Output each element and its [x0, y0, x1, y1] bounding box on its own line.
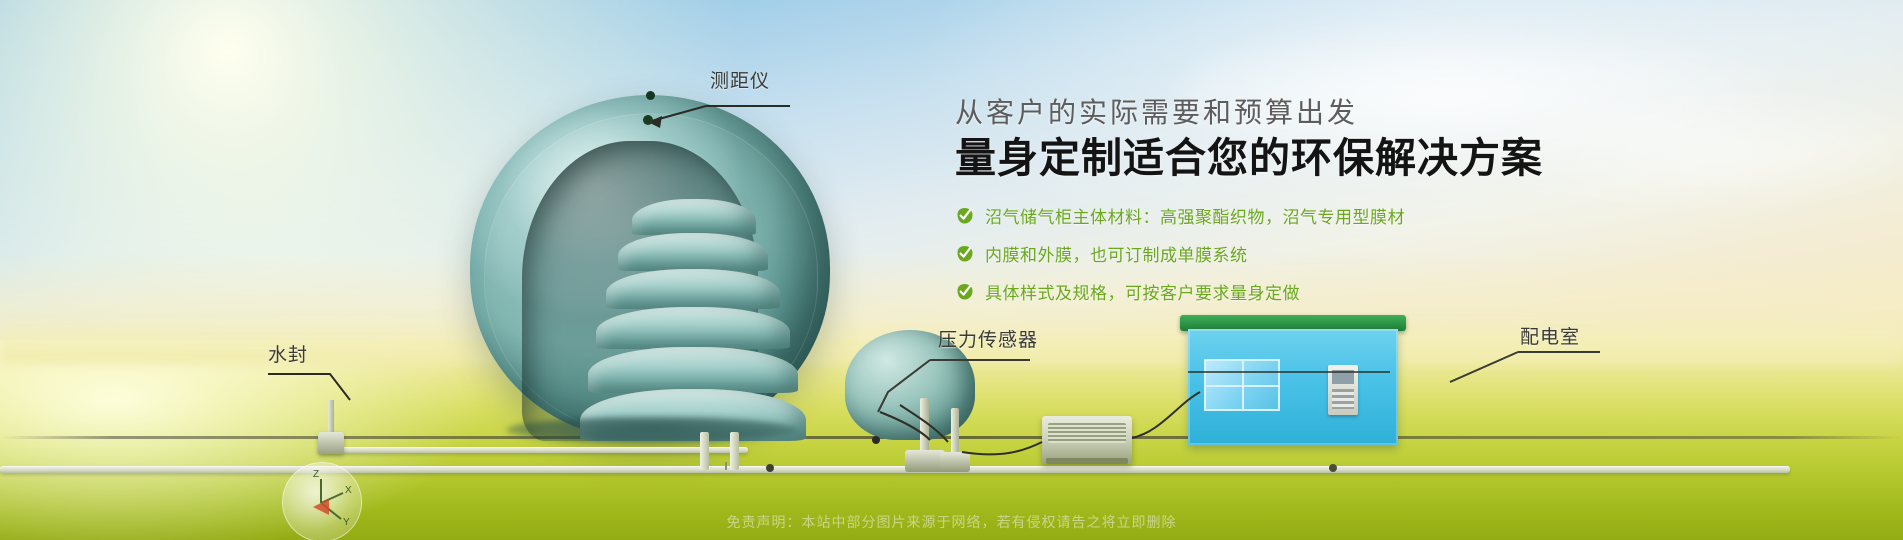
valve-column [951, 408, 959, 454]
hero-banner: Z X Y 测距仪 水封 压力传感器 配电室 从客户的实际需要和预算出发 量身定… [0, 0, 1903, 540]
pressure-sensor-unit [905, 398, 945, 470]
check-badge-icon [955, 206, 975, 226]
svg-text:Z: Z [313, 469, 319, 480]
branch-pipeline [318, 447, 748, 453]
vent-stack [700, 432, 709, 470]
list-item-label: 具体样式及规格，可按客户要求量身定做 [985, 279, 1300, 304]
inner-membrane-layer [618, 233, 768, 271]
kicker-text: 从客户的实际需要和预算出发 [955, 95, 1615, 130]
control-panel-icon [1328, 365, 1358, 415]
gas-holder-dome [470, 95, 830, 440]
list-item-label: 内膜和外膜，也可订制成单膜系统 [985, 241, 1248, 266]
svg-text:X: X [345, 485, 352, 496]
blower-base [1046, 458, 1128, 464]
label-power-distribution-room: 配电室 [1520, 322, 1580, 349]
list-item-label: 沼气储气柜主体材料：高强聚酯织物，沼气专用型膜材 [985, 203, 1405, 228]
list-item: 沼气储气柜主体材料：高强聚酯织物，沼气专用型膜材 [955, 203, 1615, 228]
water-seal-post [328, 400, 334, 436]
disclaimer-text: 免责声明：本站中部分图片来源于网络，若有侵权请告之将立即删除 [0, 512, 1903, 532]
inner-membrane-layer [606, 269, 780, 309]
list-item: 具体样式及规格，可按客户要求量身定做 [955, 279, 1615, 304]
water-seal-box [318, 432, 344, 454]
blower-grill [1048, 423, 1126, 443]
power-distribution-room-building [1188, 315, 1398, 445]
feature-bullet-list: 沼气储气柜主体材料：高强聚酯织物，沼气专用型膜材 内膜和外膜，也可订制成单膜系统 [955, 203, 1615, 304]
headline-text: 量身定制适合您的环保解决方案 [955, 134, 1615, 183]
check-badge-icon [955, 244, 975, 264]
shed-window [1204, 359, 1280, 411]
main-pipeline [0, 466, 1790, 473]
dome-cutaway [522, 141, 758, 441]
check-badge-icon [955, 282, 975, 302]
water-seal-unit [318, 400, 344, 450]
vent-stack [730, 432, 739, 470]
blower-skid [1042, 416, 1132, 464]
rangefinder-sensor-icon [646, 91, 655, 100]
dome-shadow [506, 417, 796, 443]
sensor-column [920, 398, 929, 454]
label-water-seal: 水封 [268, 340, 308, 367]
valve-base [940, 452, 970, 472]
inner-membrane-layer [632, 199, 756, 235]
label-rangefinder: 测距仪 [710, 66, 770, 93]
list-item: 内膜和外膜，也可订制成单膜系统 [955, 241, 1615, 266]
marketing-copy-block: 从客户的实际需要和预算出发 量身定制适合您的环保解决方案 沼气储气柜主体材料：高… [955, 95, 1615, 317]
sensor-base [905, 450, 945, 472]
inner-membrane-layer [588, 347, 798, 393]
shed-body [1188, 329, 1398, 445]
inner-membrane-layer [596, 307, 790, 349]
label-pressure-sensor: 压力传感器 [938, 325, 1038, 352]
valve-unit [940, 408, 970, 470]
